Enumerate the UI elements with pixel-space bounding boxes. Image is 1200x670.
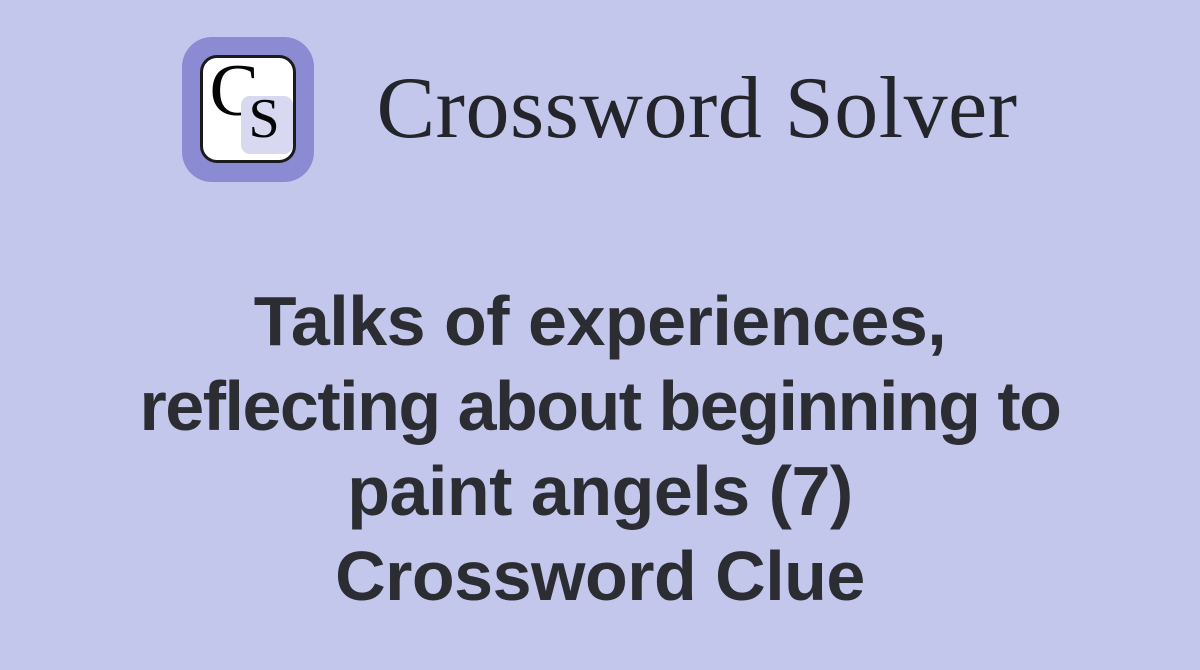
logo-letter-s-icon: S <box>248 91 279 147</box>
logo[interactable]: C S <box>182 37 314 182</box>
clue-line-3: paint angels (7) <box>95 449 1105 534</box>
clue-line-1: Talks of experiences, <box>95 279 1105 364</box>
site-header: C S Crossword Solver <box>0 28 1200 190</box>
page-title: Talks of experiences, reflecting about b… <box>95 279 1105 619</box>
clue-line-4: Crossword Clue <box>95 534 1105 619</box>
page-root: C S Crossword Solver Talks of experience… <box>0 0 1200 670</box>
clue-line-2: reflecting about beginning to <box>95 364 1105 449</box>
logo-card: C S <box>200 55 296 163</box>
site-title[interactable]: Crossword Solver <box>376 65 1017 153</box>
